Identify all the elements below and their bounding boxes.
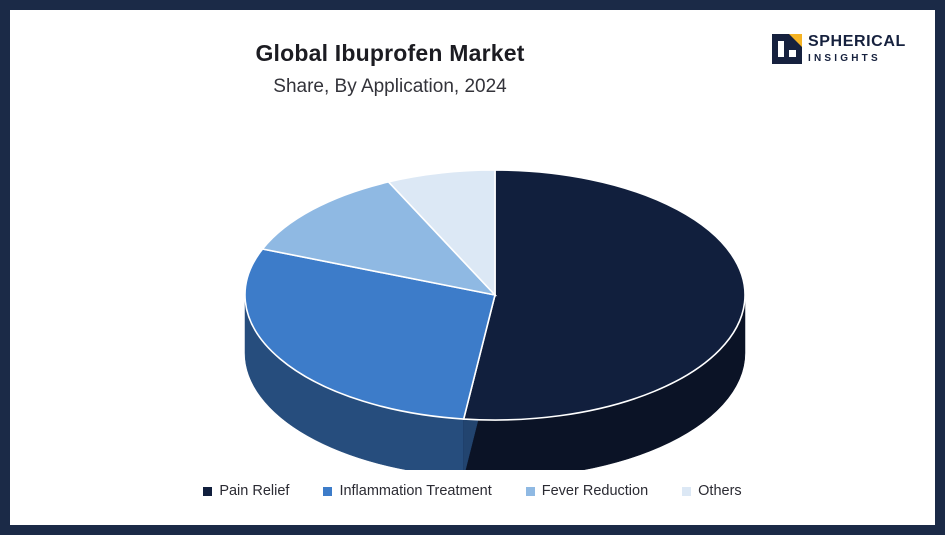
legend-swatch-icon — [203, 487, 212, 496]
pie-chart — [235, 150, 755, 470]
logo-text: SPHERICAL INSIGHTS — [808, 33, 906, 66]
legend-swatch-icon — [323, 487, 332, 496]
image-frame: Global Ibuprofen Market Share, By Applic… — [0, 0, 945, 535]
pie-chart-svg — [235, 150, 755, 470]
legend-item-label: Fever Reduction — [542, 483, 648, 499]
legend-item[interactable]: Pain Relief — [203, 483, 289, 499]
legend-swatch-icon — [682, 487, 691, 496]
chart-legend: Pain ReliefInflammation TreatmentFever R… — [10, 483, 935, 499]
legend-item-label: Pain Relief — [219, 483, 289, 499]
legend-item[interactable]: Fever Reduction — [526, 483, 648, 499]
page-title: Global Ibuprofen Market — [10, 38, 770, 68]
title-block: Global Ibuprofen Market Share, By Applic… — [10, 38, 770, 102]
legend-item-label: Inflammation Treatment — [339, 483, 491, 499]
legend-swatch-icon — [526, 487, 535, 496]
legend-item[interactable]: Inflammation Treatment — [323, 483, 491, 499]
logo-mark-icon — [772, 34, 802, 64]
logo-tagline: INSIGHTS — [808, 52, 906, 66]
legend-item-label: Others — [698, 483, 742, 499]
brand-logo: SPHERICAL INSIGHTS — [772, 30, 897, 76]
logo-name: SPHERICAL — [808, 33, 906, 51]
chart-subtitle: Share, By Application, 2024 — [10, 72, 770, 102]
chart-canvas: Global Ibuprofen Market Share, By Applic… — [10, 10, 935, 525]
legend-item[interactable]: Others — [682, 483, 742, 499]
